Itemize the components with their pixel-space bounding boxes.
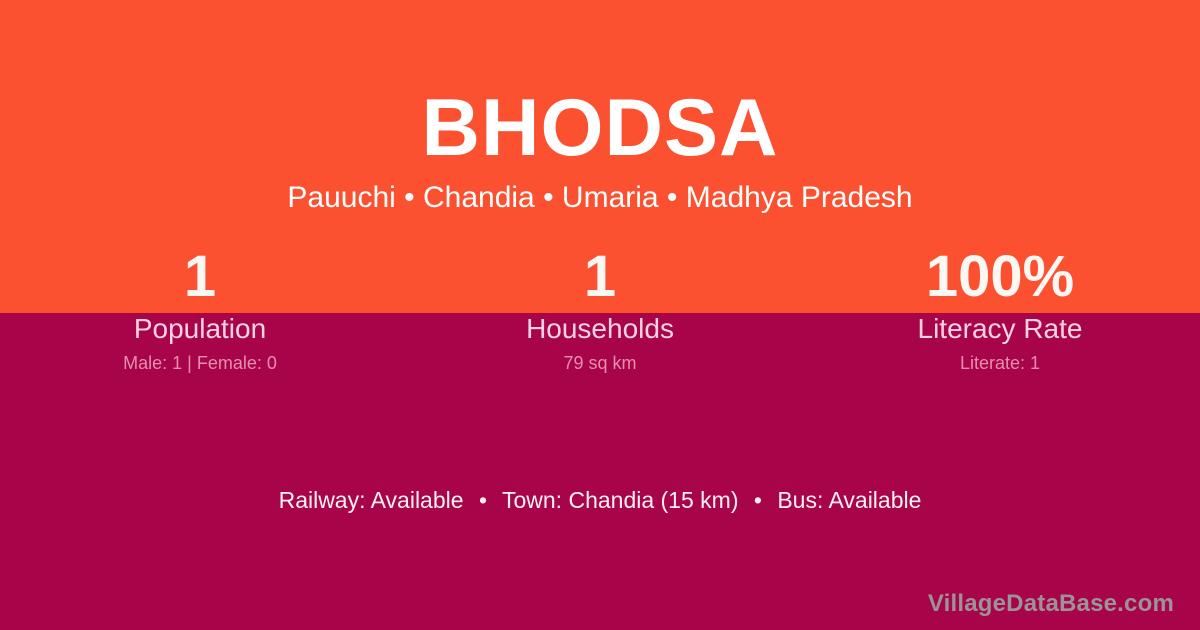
facilities-line: Railway: Available • Town: Chandia (15 k… xyxy=(0,485,1200,515)
stat-label: Literacy Rate xyxy=(800,314,1200,344)
page-title: BHODSA xyxy=(0,88,1200,169)
facility-town: Town: Chandia (15 km) xyxy=(502,487,739,513)
stat-population: 1 Population Male: 1 | Female: 0 xyxy=(0,248,400,373)
facility-separator: • xyxy=(745,487,771,513)
facility-railway: Railway: Available xyxy=(279,487,464,513)
stat-sublabel: 79 sq km xyxy=(400,353,800,373)
facility-separator: • xyxy=(470,487,496,513)
stat-households: 1 Households 79 sq km xyxy=(400,248,800,373)
stat-sublabel: Literate: 1 xyxy=(800,353,1200,373)
facility-bus: Bus: Available xyxy=(777,487,921,513)
stat-value: 100% xyxy=(800,248,1200,306)
village-info-card: BHODSA Pauuchi • Chandia • Umaria • Madh… xyxy=(0,0,1200,630)
stat-sublabel: Male: 1 | Female: 0 xyxy=(0,353,400,373)
site-watermark: VillageDataBase.com xyxy=(928,591,1174,617)
stat-label: Households xyxy=(400,314,800,344)
stat-literacy-rate: 100% Literacy Rate Literate: 1 xyxy=(800,248,1200,373)
stat-value: 1 xyxy=(0,248,400,306)
breadcrumb: Pauuchi • Chandia • Umaria • Madhya Prad… xyxy=(0,181,1200,214)
stat-value: 1 xyxy=(400,248,800,306)
stats-row: 1 Population Male: 1 | Female: 0 1 House… xyxy=(0,248,1200,373)
stat-label: Population xyxy=(0,314,400,344)
